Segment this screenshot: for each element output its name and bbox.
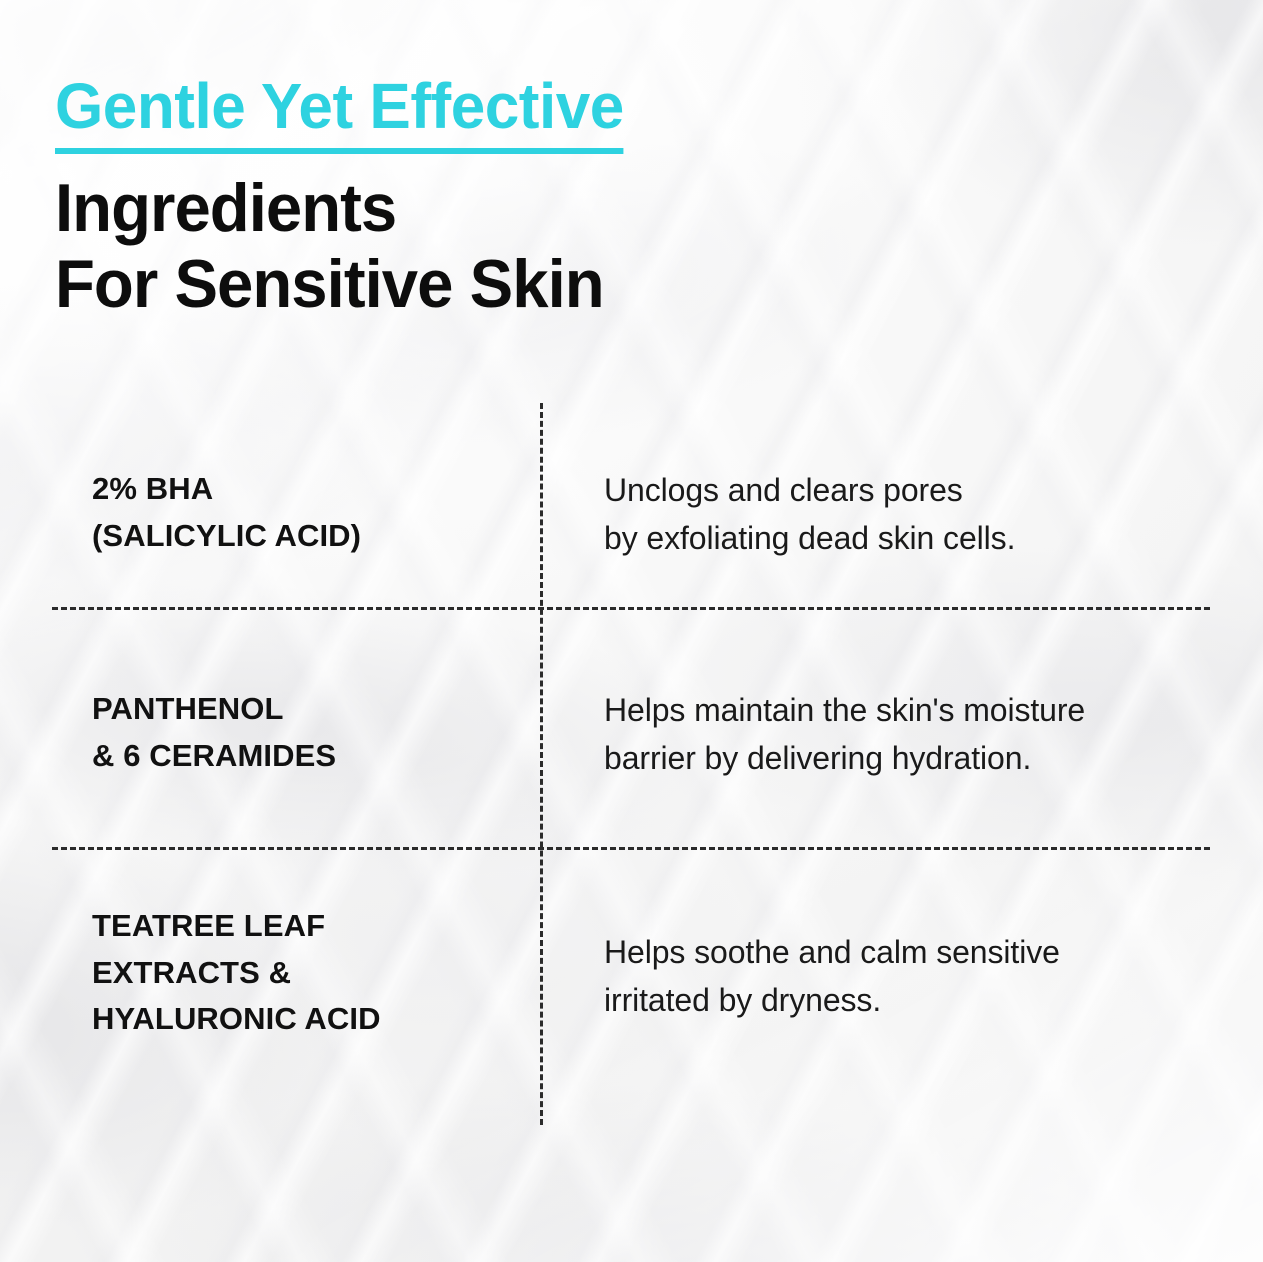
ingredient-description-line: irritated by dryness. xyxy=(604,976,1244,1024)
ingredient-name-line: EXTRACTS & xyxy=(92,950,512,997)
ingredient-description-line: barrier by delivering hydration. xyxy=(604,734,1244,782)
ingredient-name-line: HYALURONIC ACID xyxy=(92,996,512,1043)
ingredient-name-line: & 6 CERAMIDES xyxy=(92,733,512,780)
horizontal-dotted-divider-1 xyxy=(52,607,1210,610)
ingredient-name-line: (SALICYLIC ACID) xyxy=(92,513,512,560)
ingredient-description: Unclogs and clears pores by exfoliating … xyxy=(604,466,1244,562)
ingredient-description: Helps maintain the skin's moisture barri… xyxy=(604,686,1244,782)
ingredient-description: Helps soothe and calm sensitive irritate… xyxy=(604,928,1244,1024)
headline-line-1: Ingredients xyxy=(55,170,1015,246)
vertical-dotted-divider xyxy=(540,403,543,1125)
headline-accent-underlined: Gentle Yet Effective xyxy=(55,74,624,154)
headline-block: Gentle Yet Effective Ingredients For Sen… xyxy=(55,74,1055,322)
content-layer: Gentle Yet Effective Ingredients For Sen… xyxy=(0,0,1263,1262)
page-title: Ingredients For Sensitive Skin xyxy=(55,170,1015,322)
horizontal-dotted-divider-2 xyxy=(52,847,1210,850)
headline-line-2: For Sensitive Skin xyxy=(55,246,1015,322)
ingredient-name-line: PANTHENOL xyxy=(92,686,512,733)
ingredient-description-line: Helps soothe and calm sensitive xyxy=(604,928,1244,976)
ingredient-description-line: Helps maintain the skin's moisture xyxy=(604,686,1244,734)
ingredient-name: TEATREE LEAF EXTRACTS & HYALURONIC ACID xyxy=(92,903,512,1043)
ingredient-name-line: 2% BHA xyxy=(92,466,512,513)
ingredient-name-line: TEATREE LEAF xyxy=(92,903,512,950)
ingredient-description-line: by exfoliating dead skin cells. xyxy=(604,514,1244,562)
ingredient-infographic: Gentle Yet Effective Ingredients For Sen… xyxy=(0,0,1263,1262)
ingredient-name: 2% BHA (SALICYLIC ACID) xyxy=(92,466,512,559)
ingredient-description-line: Unclogs and clears pores xyxy=(604,466,1244,514)
ingredient-name: PANTHENOL & 6 CERAMIDES xyxy=(92,686,512,779)
